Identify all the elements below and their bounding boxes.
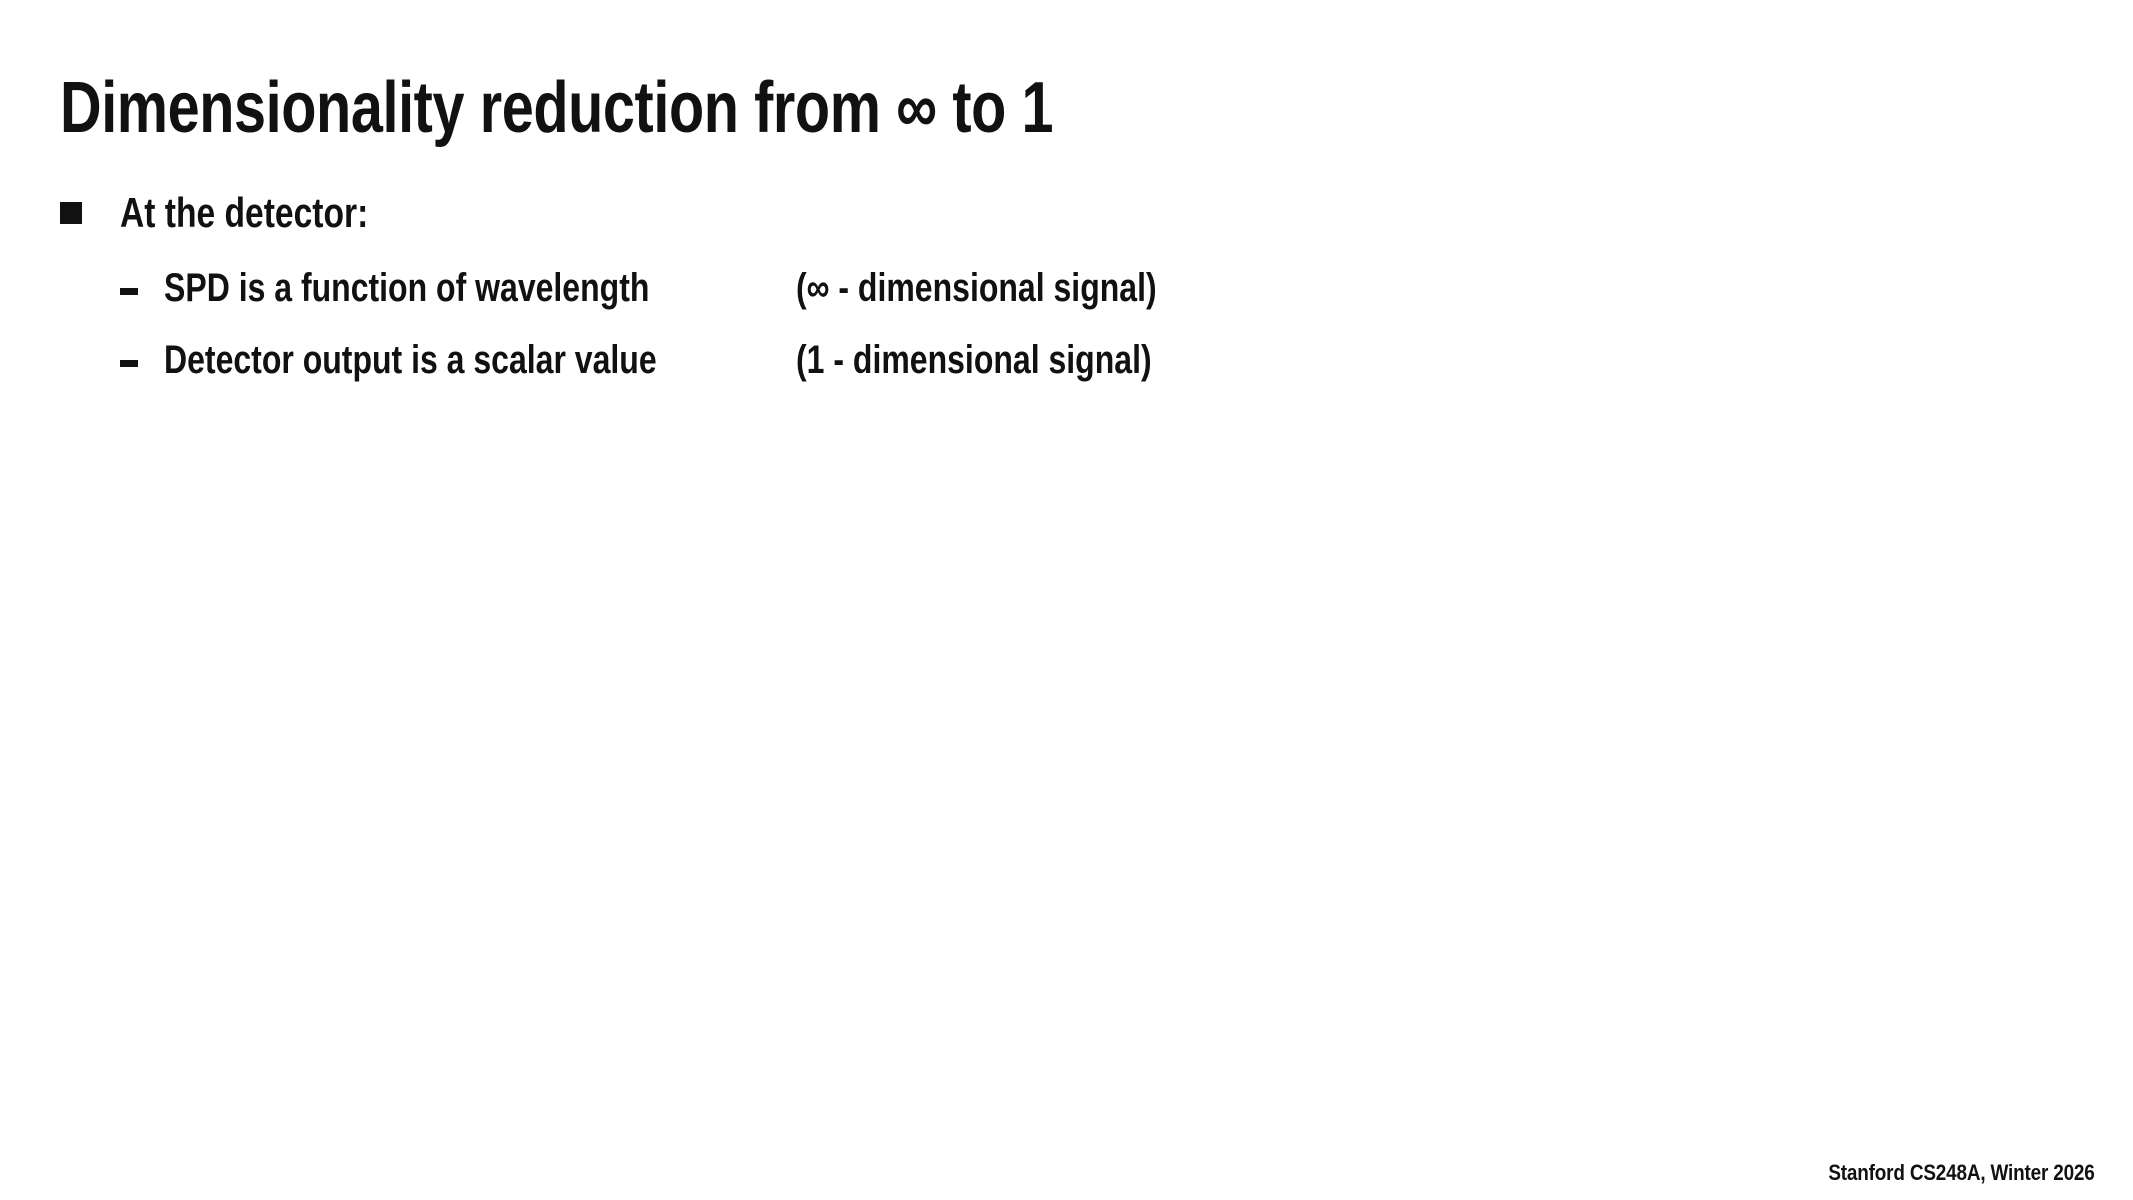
list-item: Detector output is a scalar value (1 - d…: [120, 332, 2060, 388]
dash-bullet-icon: [120, 288, 138, 295]
list-item: SPD is a function of wavelength (∞ - dim…: [120, 260, 2060, 316]
bullet-level2-note: (1 - dimensional signal): [796, 332, 1152, 388]
slide-footer: Stanford CS248A, Winter 2026: [1829, 1160, 2095, 1186]
dash-bullet-icon: [120, 360, 138, 367]
bullet-level1-label: At the detector:: [120, 188, 368, 238]
bullet-level2-label: Detector output is a scalar value: [164, 332, 796, 388]
sub-bullet-list: SPD is a function of wavelength (∞ - dim…: [120, 260, 2060, 388]
bullet-level2-label: SPD is a function of wavelength: [164, 260, 796, 316]
slide-body: At the detector: SPD is a function of wa…: [60, 188, 2060, 404]
bullet-level2-row: Detector output is a scalar value (1 - d…: [164, 332, 1152, 388]
square-bullet-icon: [60, 202, 82, 224]
slide-canvas: Dimensionality reduction from ∞ to 1 At …: [0, 0, 2133, 1200]
page-title: Dimensionality reduction from ∞ to 1: [60, 72, 1053, 144]
bullet-level2-row: SPD is a function of wavelength (∞ - dim…: [164, 260, 1157, 316]
bullet-level2-note: (∞ - dimensional signal): [796, 260, 1157, 316]
list-item: At the detector:: [60, 188, 2060, 238]
